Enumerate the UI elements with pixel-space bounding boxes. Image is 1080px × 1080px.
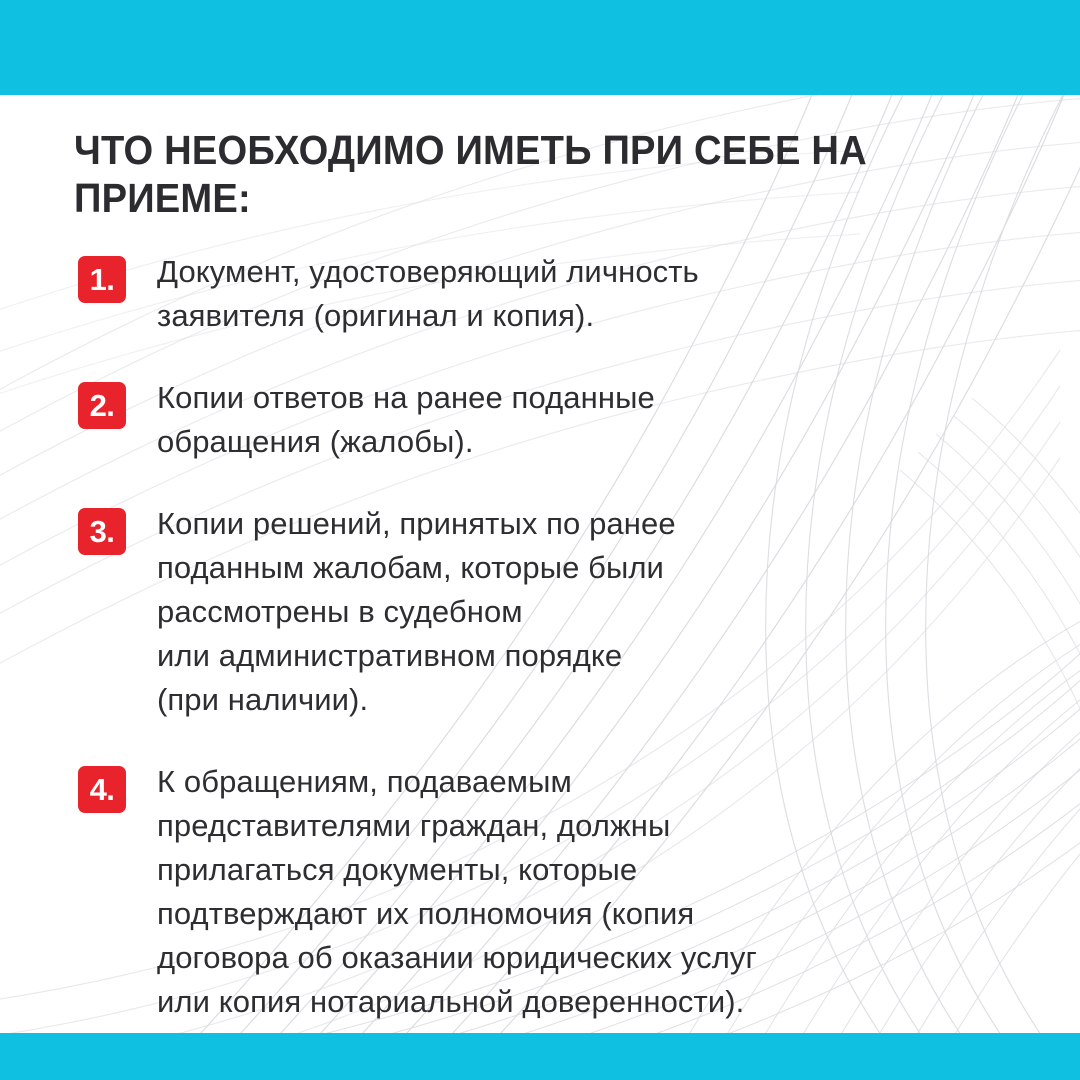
- slide-content: ЧТО НЕОБХОДИМО ИМЕТЬ ПРИ СЕБЕ НА ПРИЕМЕ:…: [0, 0, 1080, 1080]
- list-item-text: Копии ответов на ранее поданные обращени…: [157, 376, 1080, 464]
- list-item-text: К обращениям, подаваемым представителями…: [157, 760, 1080, 1024]
- list-item-number-badge: 1.: [78, 256, 126, 303]
- list-item: 1. Документ, удостоверяющий личность зая…: [0, 250, 1080, 338]
- list-item-number-badge: 3.: [78, 508, 126, 555]
- list-item: 4. К обращениям, подаваемым представител…: [0, 760, 1080, 1024]
- list-item-number-badge: 2.: [78, 382, 126, 429]
- list-item-number-badge: 4.: [78, 766, 126, 813]
- top-accent-bar: [0, 0, 1080, 95]
- list-item-text: Документ, удостоверяющий личность заявит…: [157, 250, 1080, 338]
- list-item-text: Копии решений, принятых по ранее поданны…: [157, 502, 1080, 722]
- list-item: 2. Копии ответов на ранее поданные обращ…: [0, 376, 1080, 464]
- slide-canvas: ЧТО НЕОБХОДИМО ИМЕТЬ ПРИ СЕБЕ НА ПРИЕМЕ:…: [0, 0, 1080, 1080]
- requirements-list: 1. Документ, удостоверяющий личность зая…: [0, 250, 1080, 1062]
- list-item: 3. Копии решений, принятых по ранее пода…: [0, 502, 1080, 722]
- bottom-accent-bar: [0, 1033, 1080, 1080]
- page-title: ЧТО НЕОБХОДИМО ИМЕТЬ ПРИ СЕБЕ НА ПРИЕМЕ:: [74, 126, 892, 222]
